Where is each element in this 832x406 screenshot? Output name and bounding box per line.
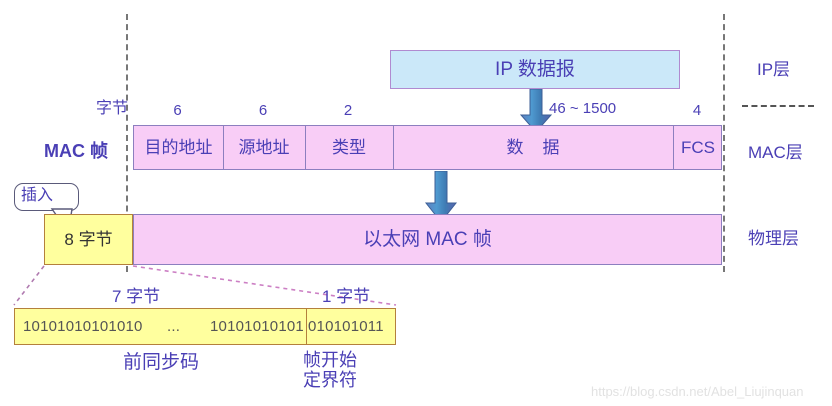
bytes-unit-label: 字节 <box>96 100 128 118</box>
sfd-detail-label-line2: 定界符 <box>303 370 357 390</box>
mac-frame-row: 目的地址 源地址 类型 数 据 FCS <box>133 125 722 170</box>
layer-label-ip: IP层 <box>757 60 790 79</box>
field-size-type: 2 <box>304 100 392 120</box>
watermark-text: https://blog.csdn.net/Abel_Liujinquan <box>591 384 804 399</box>
sfd-bits-right: 010101011 <box>308 318 384 335</box>
preamble-detail-size-right: 1 字节 <box>322 287 370 306</box>
mac-field-type-label: 类型 <box>332 138 366 157</box>
ip-datagram-label: IP 数据报 <box>495 59 575 80</box>
field-size-fcs: 4 <box>672 100 722 120</box>
layer-label-physical: 物理层 <box>748 229 799 248</box>
mac-field-fcs-label: FCS <box>681 138 715 157</box>
mac-frame-row-label: MAC 帧 <box>44 141 108 161</box>
ethernet-mac-frame-label: 以太网 MAC 帧 <box>363 229 492 250</box>
preamble-sfd-divider <box>306 309 307 344</box>
preamble-detail-size-left: 7 字节 <box>112 287 160 306</box>
sfd-detail-label-line1: 帧开始 <box>303 350 357 370</box>
ip-datagram-box: IP 数据报 <box>390 50 680 89</box>
mac-field-data-label: 数 据 <box>507 138 560 157</box>
field-size-src-addr: 6 <box>222 100 304 120</box>
insert-callout-label: 插入 <box>15 184 78 205</box>
right-boundary-dashed-line <box>723 14 725 272</box>
mac-field-data: 数 据 <box>393 126 673 169</box>
mac-field-fcs: FCS <box>673 126 723 169</box>
mac-field-dest-addr: 目的地址 <box>134 126 223 169</box>
mac-field-src-addr-label: 源地址 <box>239 138 290 157</box>
preamble-bits-ellipsis: ... <box>167 318 180 335</box>
preamble-detail-label-left: 前同步码 <box>123 352 199 373</box>
ethernet-frame-diagram: IP层 MAC层 物理层 IP 数据报 字节 6 6 2 46 ~ 1500 4… <box>0 0 832 406</box>
preamble-byte-cell-label: 8 字节 <box>64 230 112 249</box>
mac-field-src-addr: 源地址 <box>223 126 305 169</box>
sfd-detail-label: 帧开始 定界符 <box>303 350 357 390</box>
mac-field-dest-addr-label: 目的地址 <box>145 138 213 157</box>
preamble-detail-box: 10101010101010 ... 10101010101 010101011 <box>14 308 396 345</box>
preamble-bits-left: 10101010101010 <box>23 318 143 335</box>
layer-label-mac: MAC层 <box>748 143 803 162</box>
field-size-data: 46 ~ 1500 <box>549 100 616 117</box>
mac-field-type: 类型 <box>305 126 393 169</box>
ip-mac-layer-divider <box>742 105 814 107</box>
field-size-dest-addr: 6 <box>133 100 222 120</box>
preamble-bits-mid: 10101010101 <box>210 318 304 335</box>
